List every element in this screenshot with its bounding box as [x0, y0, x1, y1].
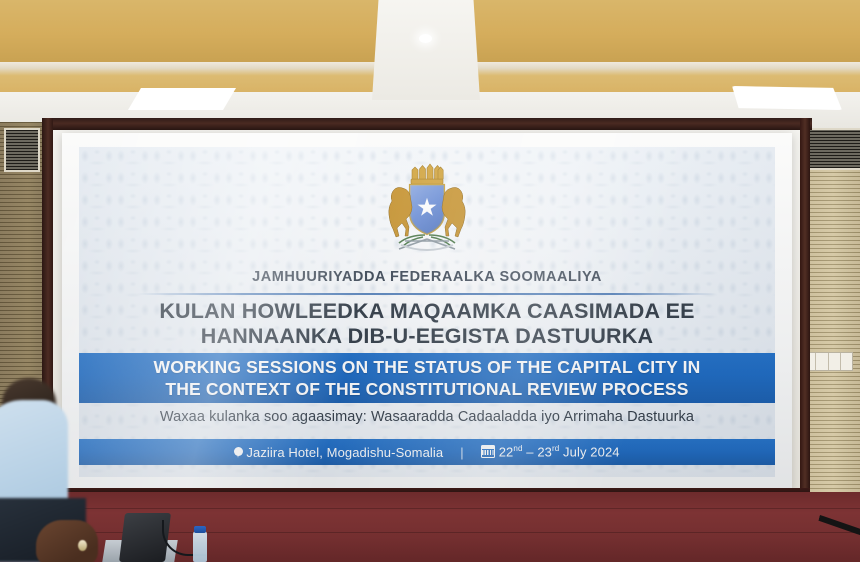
- banner-divider-rule: [137, 293, 717, 295]
- banner-title-english-line1: WORKING SESSIONS ON THE STATUS OF THE CA…: [154, 356, 701, 378]
- banner-title-somali: KULAN HOWLEEDKA MAQAAMKA CAASIMADA EE HA…: [79, 299, 775, 349]
- ac-vent-left-icon: [4, 128, 40, 172]
- banner-location-group: Jaziira Hotel, Mogadishu-Somalia: [234, 445, 443, 460]
- ceiling-center-drop-panel: [372, 0, 480, 100]
- switch-3[interactable]: [829, 353, 841, 370]
- finger-ring: [78, 540, 87, 551]
- date-month-year: July 2024: [559, 445, 619, 460]
- banner-printed-area: JAMHUURIYADDA FEDERAALKA SOOMAALIYA KULA…: [79, 147, 775, 477]
- water-bottle-cap: [194, 526, 206, 533]
- location-pin-icon: [234, 447, 243, 459]
- banner-location-text: Jaziira Hotel, Mogadishu-Somalia: [246, 445, 443, 460]
- date-day-start-suffix: nd: [513, 444, 522, 453]
- person-hand: [36, 520, 98, 562]
- banner-title-somali-line2: HANNAANKA DIB-U-EEGISTA DASTUURKA: [79, 324, 775, 349]
- calendar-icon: [481, 445, 495, 458]
- wall-switch-plate[interactable]: [803, 352, 853, 371]
- downlight-upper-icon: [419, 34, 432, 43]
- wood-beam-top: [42, 118, 812, 130]
- led-panel-left-icon: [128, 88, 236, 110]
- led-panel-right-icon: [732, 86, 842, 110]
- date-day-end: 23: [537, 445, 552, 460]
- conference-hall-photo: JAMHUURIYADDA FEDERAALKA SOOMAALIYA KULA…: [0, 0, 860, 562]
- footer-separator: |: [460, 445, 463, 460]
- banner-title-english: WORKING SESSIONS ON THE STATUS OF THE CA…: [154, 356, 701, 400]
- banner-footer-bar: Jaziira Hotel, Mogadishu-Somalia | 22nd …: [79, 439, 775, 465]
- switch-2[interactable]: [816, 353, 828, 370]
- banner-title-english-line2: THE CONTEXT OF THE CONSTITUTIONAL REVIEW…: [154, 378, 701, 400]
- event-backdrop-banner: JAMHUURIYADDA FEDERAALKA SOOMAALIYA KULA…: [62, 133, 792, 491]
- water-bottle: [193, 531, 207, 562]
- banner-organiser-line: Waxaa kulanka soo agaasimay: Wasaaradda …: [79, 409, 775, 425]
- banner-country-line: JAMHUURIYADDA FEDERAALKA SOOMAALIYA: [79, 269, 775, 285]
- banner-date-group: 22nd – 23rd July 2024: [481, 444, 620, 459]
- switch-4[interactable]: [841, 353, 852, 370]
- banner-title-somali-line1: KULAN HOWLEEDKA MAQAAMKA CAASIMADA EE: [79, 299, 775, 324]
- date-day-start: 22: [499, 445, 514, 460]
- wood-beam-right: [800, 118, 810, 538]
- banner-blue-title-bar: WORKING SESSIONS ON THE STATUS OF THE CA…: [79, 353, 775, 403]
- somalia-coat-of-arms-icon: [365, 163, 489, 255]
- date-dash: –: [523, 445, 538, 460]
